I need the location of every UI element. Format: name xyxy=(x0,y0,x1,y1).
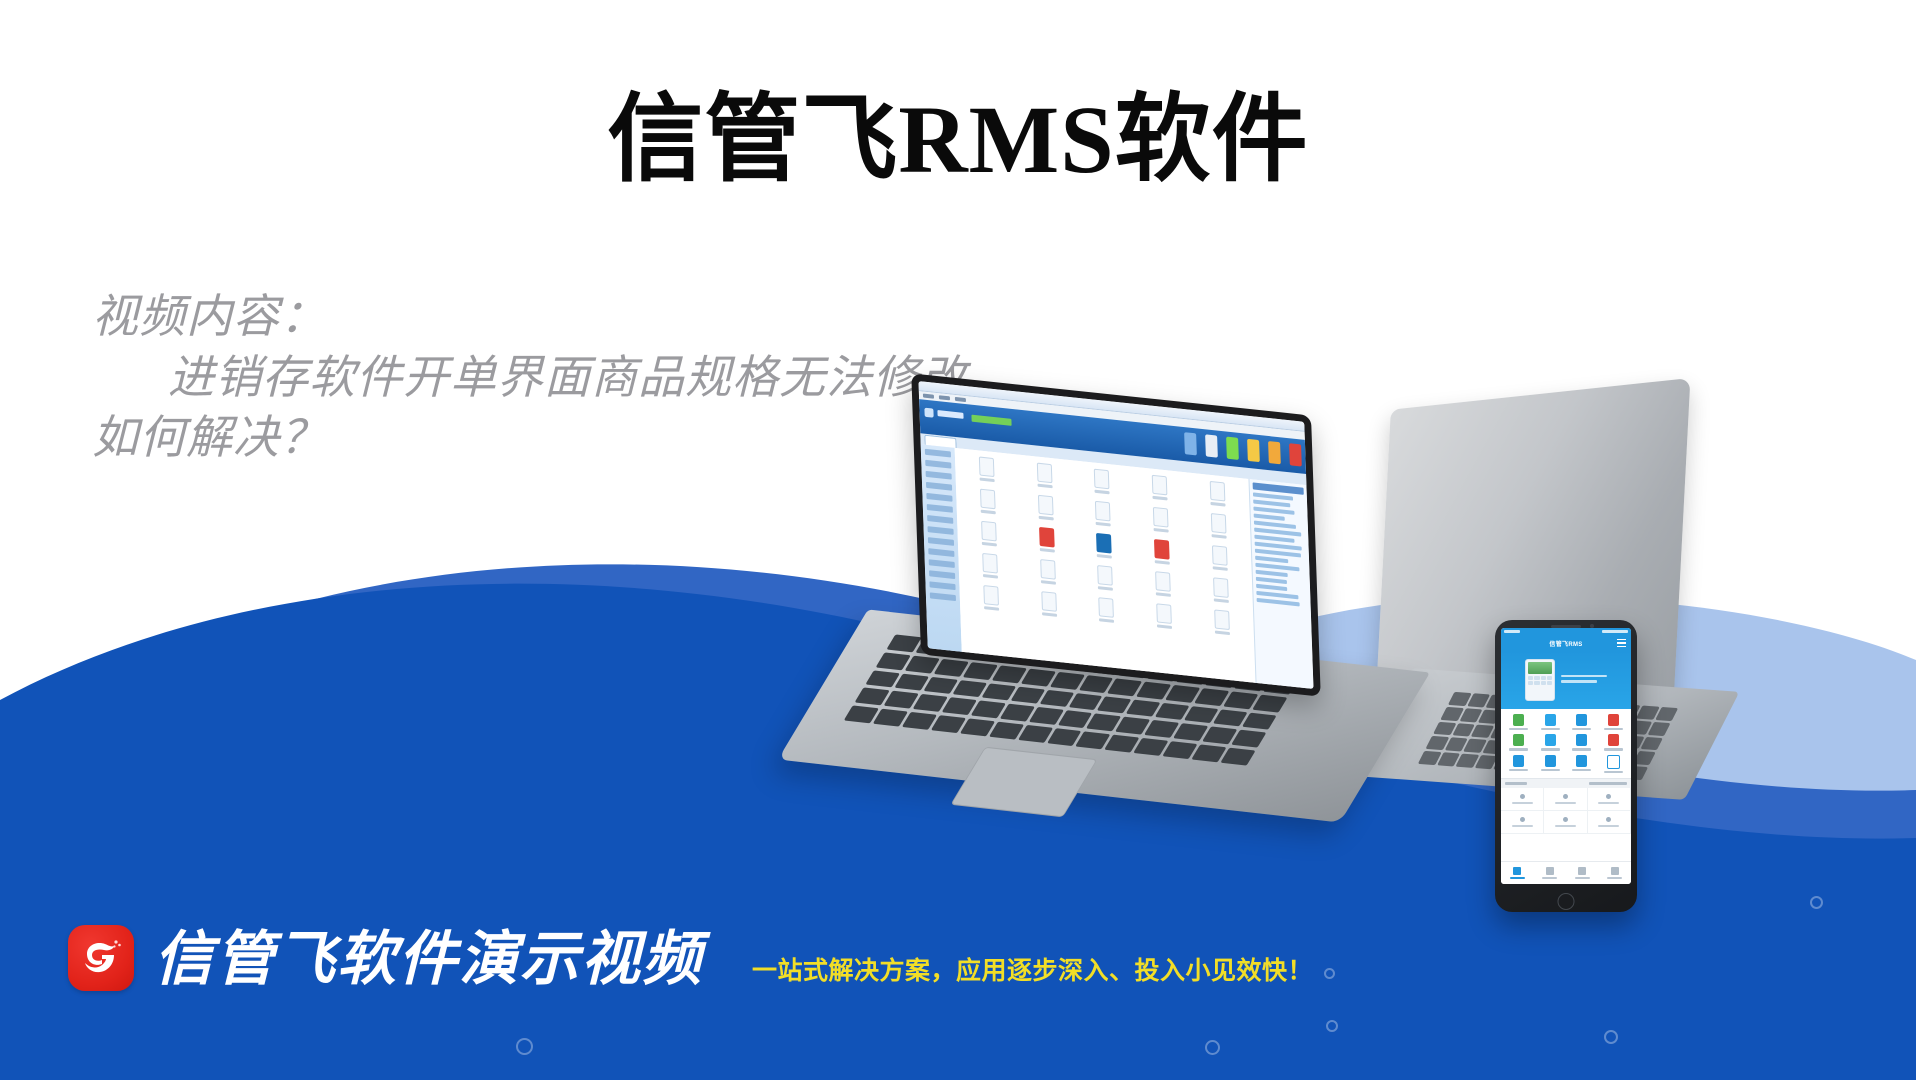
erp-ribbon-button xyxy=(1289,443,1302,466)
phone-tab[interactable] xyxy=(1534,862,1567,884)
phone-stats-filters xyxy=(1589,782,1627,785)
phone-function-tile[interactable] xyxy=(1599,734,1629,750)
xinguanfei-bird-logo-icon xyxy=(68,925,134,991)
phone-stat-cell xyxy=(1501,811,1544,834)
erp-app-icon xyxy=(1136,601,1193,637)
brand-tagline: 一站式解决方案，应用逐步深入、投入小见效快！ xyxy=(752,958,1313,983)
phone-function-tile[interactable] xyxy=(1504,734,1534,750)
erp-app-icon xyxy=(1132,473,1189,509)
phone-tab[interactable] xyxy=(1599,862,1632,884)
erp-sidebar-item xyxy=(926,471,952,480)
erp-app-icon xyxy=(1076,531,1133,567)
erp-app-icon xyxy=(1134,537,1191,573)
footer-brand: 信管飞软件演示视频 xyxy=(68,925,703,991)
phone-function-tile[interactable] xyxy=(1504,755,1534,773)
erp-app-icon xyxy=(1019,525,1076,561)
erp-app-icon xyxy=(960,487,1017,523)
erp-ribbon-button xyxy=(1184,432,1197,455)
hamburger-menu-icon[interactable] xyxy=(1617,639,1626,649)
phone-stat-cell xyxy=(1588,788,1631,811)
erp-app-icon xyxy=(1192,575,1249,611)
erp-sidebar-item xyxy=(930,592,956,601)
erp-app-icon xyxy=(1078,595,1135,631)
phone-home-button[interactable] xyxy=(1558,893,1575,910)
decorative-bubble xyxy=(1326,1020,1338,1032)
erp-menu-item xyxy=(939,395,950,400)
decorative-bubble xyxy=(1604,1030,1618,1044)
erp-ribbon-button xyxy=(1226,437,1239,460)
erp-app-icon xyxy=(1135,569,1192,605)
erp-right-panel-row xyxy=(1254,514,1285,521)
erp-app-icon xyxy=(962,551,1019,587)
erp-app-icon xyxy=(1190,511,1247,547)
erp-app-icon xyxy=(1016,460,1073,496)
phone-hero-image xyxy=(1528,662,1552,674)
erp-app-icon xyxy=(1021,589,1078,625)
erp-app-icon xyxy=(1077,563,1134,599)
erp-sidebar-item xyxy=(927,504,953,513)
phone-function-tile[interactable] xyxy=(1599,714,1629,730)
erp-sidebar-item xyxy=(928,537,954,546)
phone-stat-cell xyxy=(1544,811,1587,834)
erp-app-icon xyxy=(1020,557,1077,593)
erp-app-icon xyxy=(961,519,1018,555)
phone-status-time xyxy=(1504,630,1520,633)
video-content-label: 视频内容： xyxy=(92,286,1212,347)
erp-sidebar-item xyxy=(926,493,952,502)
erp-app-icon xyxy=(963,583,1020,619)
phone-hero-device-illustration xyxy=(1525,659,1555,701)
phone-function-tile[interactable] xyxy=(1567,714,1597,730)
erp-sidebar-item xyxy=(929,581,955,590)
erp-app-icon xyxy=(1194,607,1251,643)
phone-bottom-tabbar xyxy=(1501,861,1631,884)
phone-hero-keypad xyxy=(1528,676,1552,685)
phone-screen: 信管飞RMS xyxy=(1501,628,1631,884)
erp-sidebar-item xyxy=(928,548,954,557)
phone-function-tile[interactable] xyxy=(1536,734,1566,750)
phone-hero-text xyxy=(1561,675,1607,686)
erp-ribbon-toolbar xyxy=(1184,432,1302,466)
phone-stats-grid xyxy=(1501,788,1631,834)
erp-right-panel xyxy=(1248,479,1313,689)
decorative-bubble xyxy=(516,1038,533,1055)
erp-sidebar-item xyxy=(927,515,953,524)
erp-app-icon xyxy=(1018,493,1075,529)
erp-menu-item xyxy=(955,397,966,402)
erp-app-logo-icon xyxy=(924,408,933,418)
erp-app-icon xyxy=(959,454,1016,490)
phone-status-icons xyxy=(1602,630,1628,633)
phone-stat-cell xyxy=(1501,788,1544,811)
erp-right-panel-row xyxy=(1256,584,1287,591)
phone-function-grid xyxy=(1501,709,1631,778)
phone-function-tile[interactable] xyxy=(1599,755,1629,773)
phone-function-tile[interactable] xyxy=(1536,714,1566,730)
laptop-desktop-erp-mockup xyxy=(916,395,1386,685)
phone-app-navbar: 信管飞RMS xyxy=(1501,635,1631,651)
brand-name: 信管飞软件演示视频 xyxy=(154,929,703,988)
phone-stats-title xyxy=(1505,782,1527,785)
erp-right-panel-row xyxy=(1256,577,1287,584)
phone-hero-banner xyxy=(1501,651,1631,709)
erp-icon-grid xyxy=(955,448,1256,684)
phone-stat-cell xyxy=(1588,811,1631,834)
erp-sidebar-item xyxy=(925,460,951,469)
erp-right-panel-row xyxy=(1255,556,1288,563)
laptop-lid xyxy=(911,373,1321,696)
erp-sidebar-item xyxy=(926,482,952,491)
erp-right-panel-row xyxy=(1256,570,1288,577)
phone-statusbar xyxy=(1501,628,1631,635)
erp-license-banner xyxy=(971,415,1011,426)
phone-mobile-app-mockup: 信管飞RMS xyxy=(1495,620,1637,912)
phone-tab[interactable] xyxy=(1501,862,1534,884)
erp-app-icon xyxy=(1189,479,1246,515)
phone-tab[interactable] xyxy=(1566,862,1599,884)
erp-app-icon xyxy=(1074,467,1131,503)
laptop-screen xyxy=(918,381,1313,689)
erp-app-title xyxy=(937,410,963,419)
erp-sidebar-item xyxy=(925,449,951,458)
erp-app-icon xyxy=(1191,543,1248,579)
erp-app-icon xyxy=(1075,499,1132,535)
phone-function-tile[interactable] xyxy=(1567,755,1597,773)
phone-stat-cell xyxy=(1544,788,1587,811)
phone-function-tile[interactable] xyxy=(1536,755,1566,773)
decorative-bubble xyxy=(1810,896,1823,909)
page-title: 信管飞RMS软件 xyxy=(0,88,1916,192)
erp-body xyxy=(921,444,1314,689)
erp-sidebar-item xyxy=(929,559,955,568)
decorative-bubble xyxy=(1205,1040,1220,1055)
decorative-bubble xyxy=(1324,968,1335,979)
erp-ribbon-button xyxy=(1268,441,1281,464)
slide-canvas: 信管飞RMS软件 视频内容： 进销存软件开单界面商品规格无法修改 如何解决？ xyxy=(0,0,1916,1080)
erp-ribbon-button xyxy=(1205,434,1218,457)
phone-stats-section-header xyxy=(1501,778,1631,788)
erp-app-icon xyxy=(1133,505,1190,541)
erp-menu-item xyxy=(923,394,934,399)
erp-sidebar-item xyxy=(927,526,953,535)
erp-ribbon-button xyxy=(1247,439,1260,462)
phone-app-title: 信管飞RMS xyxy=(1549,639,1582,648)
phone-function-tile[interactable] xyxy=(1567,734,1597,750)
erp-sidebar-item xyxy=(929,570,955,579)
phone-function-tile[interactable] xyxy=(1504,714,1534,730)
erp-right-panel-row xyxy=(1257,598,1300,607)
